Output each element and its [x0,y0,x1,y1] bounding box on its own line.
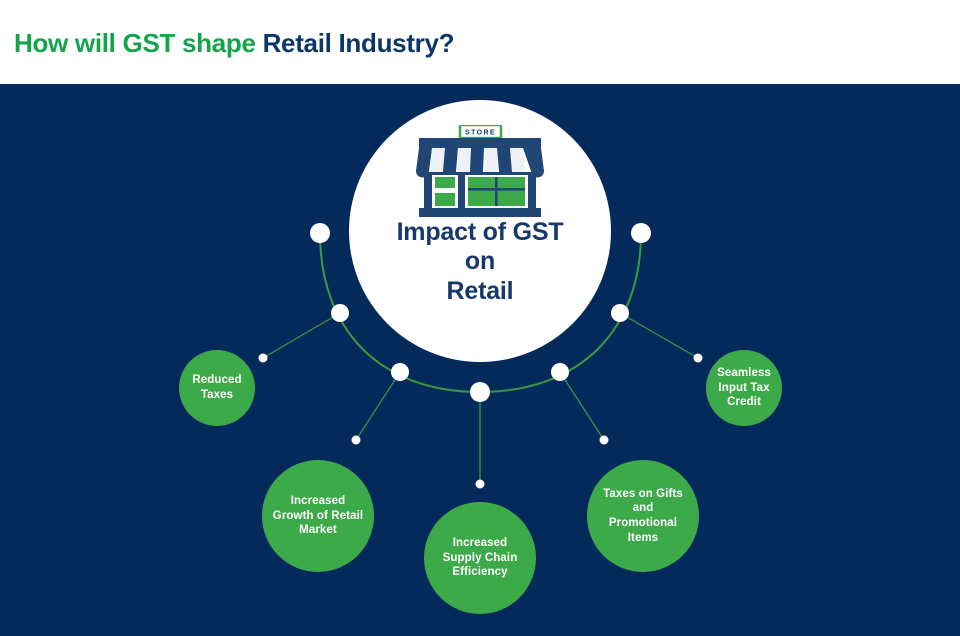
hub-label: Impact of GST on Retail [349,218,611,306]
hub-dot-increased-growth-of-retail-market [391,363,409,381]
arc-endpoint-dot-right [631,223,651,243]
infographic-canvas: How will GST shape Retail Industry? [0,0,960,636]
diagram-stage: STORE [0,84,960,636]
node-label-increased-growth-of-retail-market: Increased Growth of Retail Market [267,494,369,538]
hub-circle[interactable]: STORE [349,100,611,362]
hub-dot-taxes-on-gifts-and-promotional-items [551,363,569,381]
node-bubble-increased-supply-chain-efficiency[interactable]: Increased Supply Chain Efficiency [424,502,536,614]
leaf-dot-taxes-on-gifts-and-promotional-items [600,436,609,445]
arc-endpoint-dot-left [310,223,330,243]
node-bubble-reduced-taxes[interactable]: Reduced Taxes [179,350,255,426]
hub-dot-reduced-taxes [331,304,349,322]
connector-line-increased-growth-of-retail-market [356,372,400,440]
connector-line-seamless-input-tax-credit [620,313,698,358]
leaf-dot-seamless-input-tax-credit [694,354,703,363]
node-label-reduced-taxes: Reduced Taxes [186,373,247,402]
connector-line-reduced-taxes [263,313,340,358]
header-band: How will GST shape Retail Industry? [0,0,960,84]
retail-store-icon: STORE [410,125,550,220]
node-bubble-taxes-on-gifts-and-promotional-items[interactable]: Taxes on Gifts and Promotional Items [587,460,699,572]
node-label-increased-supply-chain-efficiency: Increased Supply Chain Efficiency [437,536,524,580]
leaf-dot-increased-growth-of-retail-market [352,436,361,445]
leaf-dot-reduced-taxes [259,354,268,363]
page-title-green-part: How will GST shape [14,28,263,58]
node-bubble-increased-growth-of-retail-market[interactable]: Increased Growth of Retail Market [262,460,374,572]
page-title: How will GST shape Retail Industry? [14,28,454,59]
page-title-navy-part: Retail Industry? [263,28,455,58]
leaf-dot-increased-supply-chain-efficiency [476,480,485,489]
node-label-seamless-input-tax-credit: Seamless Input Tax Credit [711,366,777,410]
node-label-taxes-on-gifts-and-promotional-items: Taxes on Gifts and Promotional Items [597,487,689,546]
node-bubble-seamless-input-tax-credit[interactable]: Seamless Input Tax Credit [706,350,782,426]
hub-dot-increased-supply-chain-efficiency [470,382,490,402]
connector-line-taxes-on-gifts-and-promotional-items [560,372,604,440]
hub-dot-seamless-input-tax-credit [611,304,629,322]
store-sign-text: STORE [465,130,496,137]
